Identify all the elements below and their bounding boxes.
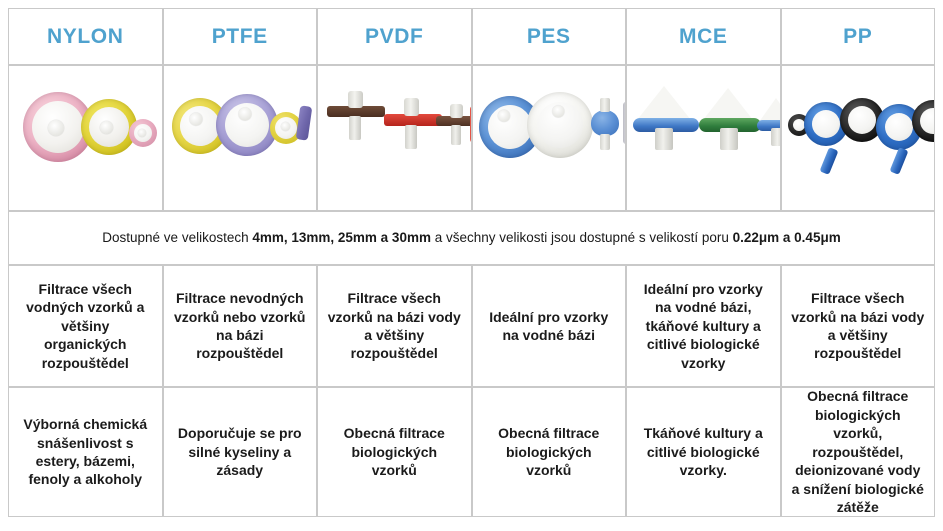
banner-text-part1: Dostupné ve velikostech: [102, 230, 252, 245]
applications-text: Filtrace všech vzorků na bázi vody a vět…: [791, 289, 924, 363]
nylon-syringe-filters-image: [9, 66, 162, 210]
header-cell-pes: PES: [472, 8, 627, 65]
sizes-banner: Dostupné ve velikostech 4mm, 13mm, 25mm …: [8, 211, 935, 265]
notes-text: Obecná filtrace biologických vzorků: [327, 424, 462, 479]
notes-cell-mce: Tkáňové kultury a citlivé biologické vzo…: [626, 387, 781, 517]
applications-text: Filtrace všech vzorků na bázi vody a vět…: [328, 289, 461, 363]
comparison-grid: NYLON PTFE PVDF PES MCE PP: [8, 8, 935, 525]
image-cell-mce: [626, 65, 781, 211]
banner-pore-sizes: 0.22μm a 0.45μm: [733, 230, 841, 245]
notes-text: Doporučuje se pro silné kyseliny a zásad…: [178, 424, 302, 479]
header-cell-mce: MCE: [626, 8, 781, 65]
applications-cell-nylon: Filtrace všech vodných vzorků a většiny …: [8, 265, 163, 387]
notes-cell-pvdf: Obecná filtrace biologických vzorků: [317, 387, 472, 517]
filter-comparison-table: NYLON PTFE PVDF PES MCE PP: [0, 0, 943, 531]
applications-cell-pvdf: Filtrace všech vzorků na bázi vody a vět…: [317, 265, 472, 387]
pes-syringe-filters-image: [473, 66, 626, 210]
applications-cell-pp: Filtrace všech vzorků na bázi vody a vět…: [781, 265, 936, 387]
notes-text: Tkáňové kultury a citlivé biologické vzo…: [644, 424, 763, 479]
mce-syringe-filters-image: [627, 66, 780, 210]
header-label: NYLON: [47, 25, 124, 49]
image-cell-nylon: [8, 65, 163, 211]
applications-cell-ptfe: Filtrace nevodných vzorků nebo vzorků na…: [163, 265, 318, 387]
notes-text: Výborná chemická snášenlivost s estery, …: [23, 415, 147, 489]
pvdf-syringe-filters-image: [318, 66, 471, 210]
applications-text: Ideální pro vzorky na vodné bázi, tkáňov…: [644, 280, 763, 372]
sizes-banner-text: Dostupné ve velikostech 4mm, 13mm, 25mm …: [102, 229, 840, 247]
image-cell-ptfe: [163, 65, 318, 211]
notes-cell-nylon: Výborná chemická snášenlivost s estery, …: [8, 387, 163, 517]
notes-cell-pes: Obecná filtrace biologických vzorků: [472, 387, 627, 517]
header-cell-ptfe: PTFE: [163, 8, 318, 65]
ptfe-syringe-filters-image: [164, 66, 317, 210]
header-label: PTFE: [212, 25, 268, 49]
banner-text-part2: a všechny velikosti jsou dostupné s veli…: [431, 230, 733, 245]
header-label: PVDF: [365, 25, 423, 49]
applications-cell-mce: Ideální pro vzorky na vodné bázi, tkáňov…: [626, 265, 781, 387]
header-cell-nylon: NYLON: [8, 8, 163, 65]
header-label: PES: [527, 25, 571, 49]
image-cell-pvdf: [317, 65, 472, 211]
notes-cell-pp: Obecná filtrace biologických vzorků, roz…: [781, 387, 936, 517]
image-cell-pp: [781, 65, 936, 211]
header-label: MCE: [679, 25, 727, 49]
applications-text: Ideální pro vzorky na vodné bázi: [489, 308, 608, 345]
applications-text: Filtrace všech vodných vzorků a většiny …: [18, 280, 153, 372]
header-cell-pvdf: PVDF: [317, 8, 472, 65]
notes-cell-ptfe: Doporučuje se pro silné kyseliny a zásad…: [163, 387, 318, 517]
notes-text: Obecná filtrace biologických vzorků, roz…: [791, 387, 926, 516]
notes-text: Obecná filtrace biologických vzorků: [482, 424, 617, 479]
header-cell-pp: PP: [781, 8, 936, 65]
banner-sizes: 4mm, 13mm, 25mm a 30mm: [252, 230, 431, 245]
applications-text: Filtrace nevodných vzorků nebo vzorků na…: [173, 289, 308, 363]
pp-syringe-filters-image: [782, 66, 935, 210]
applications-cell-pes: Ideální pro vzorky na vodné bázi: [472, 265, 627, 387]
image-cell-pes: [472, 65, 627, 211]
header-label: PP: [843, 25, 872, 49]
